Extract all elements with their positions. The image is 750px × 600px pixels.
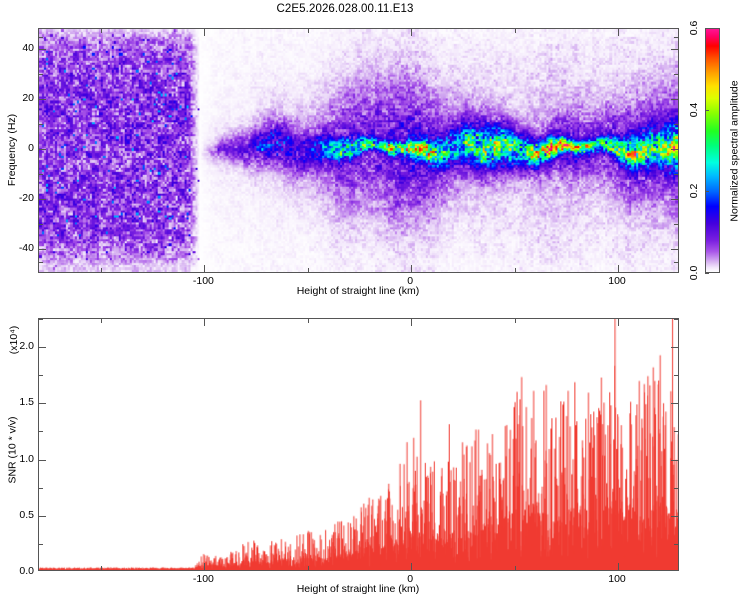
y-tick bbox=[39, 319, 43, 320]
y-tick bbox=[671, 199, 678, 200]
x-tick bbox=[204, 265, 205, 272]
y-tick bbox=[39, 460, 46, 461]
colorbar-tick-label: 0.6 bbox=[688, 21, 700, 36]
y-tick bbox=[674, 488, 678, 489]
y-tick bbox=[39, 99, 46, 100]
x-tick bbox=[411, 29, 412, 36]
y-tick-label: -40 bbox=[4, 242, 34, 254]
y-tick-label: 20 bbox=[4, 92, 34, 104]
x-tick-label: 100 bbox=[608, 573, 626, 585]
x-tick bbox=[101, 29, 102, 33]
x-tick bbox=[204, 319, 205, 326]
y-tick bbox=[674, 174, 678, 175]
y-tick bbox=[674, 431, 678, 432]
figure-title: C2E5.2026.028.00.11.E13 bbox=[0, 3, 690, 15]
y-tick-label: 1.5 bbox=[4, 396, 34, 408]
y-tick bbox=[39, 544, 43, 545]
y-tick-label: 0.5 bbox=[4, 509, 34, 521]
y-tick bbox=[671, 347, 678, 348]
y-tick bbox=[674, 224, 678, 225]
y-tick bbox=[39, 174, 43, 175]
x-tick bbox=[515, 319, 516, 323]
y-tick bbox=[671, 403, 678, 404]
y-tick bbox=[674, 124, 678, 125]
snr-panel bbox=[38, 318, 679, 571]
x-tick bbox=[308, 29, 309, 33]
x-tick-label: -100 bbox=[193, 573, 214, 585]
y-tick bbox=[674, 544, 678, 545]
colorbar-tick-label: 0.4 bbox=[688, 102, 700, 117]
colorbar-title: Normalized spectral amplitude bbox=[728, 80, 740, 221]
x-tick-label: -100 bbox=[193, 275, 214, 287]
y-tick bbox=[671, 516, 678, 517]
snr-y-axis-title: SNR (10 * v/v) bbox=[6, 416, 18, 483]
y-tick bbox=[39, 375, 43, 376]
x-tick bbox=[618, 29, 619, 36]
y-tick bbox=[39, 37, 43, 38]
figure-root: C2E5.2026.028.00.11.E13 -100010040200-20… bbox=[0, 0, 750, 600]
x-tick bbox=[515, 566, 516, 570]
y-tick-label: 40 bbox=[4, 42, 34, 54]
x-tick bbox=[411, 265, 412, 272]
y-tick bbox=[39, 49, 46, 50]
colorbar-gradient bbox=[705, 28, 720, 273]
y-tick bbox=[674, 375, 678, 376]
y-tick bbox=[39, 224, 43, 225]
x-tick bbox=[308, 319, 309, 323]
y-tick bbox=[39, 488, 43, 489]
x-tick-label: 100 bbox=[608, 275, 626, 287]
y-tick bbox=[671, 99, 678, 100]
y-tick bbox=[39, 74, 43, 75]
y-tick-label: -20 bbox=[4, 192, 34, 204]
x-tick bbox=[308, 566, 309, 570]
spectrogram-image bbox=[39, 29, 678, 272]
y-tick-label: 0.0 bbox=[4, 565, 34, 577]
snr-x-axis-title: Height of straight line (km) bbox=[297, 583, 420, 595]
x-tick bbox=[515, 268, 516, 272]
y-tick bbox=[674, 37, 678, 38]
y-tick bbox=[674, 319, 678, 320]
y-tick bbox=[39, 516, 46, 517]
x-tick bbox=[411, 563, 412, 570]
y-tick bbox=[671, 460, 678, 461]
y-tick bbox=[671, 249, 678, 250]
y-tick bbox=[39, 249, 46, 250]
y-tick bbox=[39, 124, 43, 125]
y-tick bbox=[39, 149, 46, 150]
spectrogram-x-axis-title: Height of straight line (km) bbox=[297, 285, 420, 297]
x-tick bbox=[411, 319, 412, 326]
y-tick bbox=[671, 49, 678, 50]
snr-y-scale-annotation: (x10⁴) bbox=[8, 326, 20, 354]
y-tick bbox=[39, 199, 46, 200]
x-tick bbox=[618, 319, 619, 326]
spectrogram-y-axis-title: Frequency (Hz) bbox=[6, 114, 18, 186]
colorbar-tick-label: 0.0 bbox=[688, 266, 700, 281]
colorbar-tick bbox=[705, 110, 709, 111]
x-tick bbox=[101, 566, 102, 570]
x-tick bbox=[204, 563, 205, 570]
colorbar-tick bbox=[705, 191, 709, 192]
spectrogram-panel bbox=[38, 28, 679, 273]
y-tick bbox=[39, 431, 43, 432]
y-tick bbox=[674, 74, 678, 75]
y-tick bbox=[39, 347, 46, 348]
x-tick bbox=[515, 29, 516, 33]
snr-trace bbox=[39, 319, 678, 570]
y-tick bbox=[671, 149, 678, 150]
y-tick bbox=[674, 262, 678, 263]
x-tick bbox=[618, 265, 619, 272]
y-tick bbox=[39, 262, 43, 263]
x-tick bbox=[308, 268, 309, 272]
x-tick bbox=[101, 268, 102, 272]
colorbar-tick-label: 0.2 bbox=[688, 184, 700, 199]
colorbar-tick bbox=[705, 273, 709, 274]
x-tick bbox=[101, 319, 102, 323]
colorbar bbox=[705, 28, 720, 273]
y-tick bbox=[39, 403, 46, 404]
colorbar-tick bbox=[705, 28, 709, 29]
x-tick bbox=[204, 29, 205, 36]
x-tick bbox=[618, 563, 619, 570]
